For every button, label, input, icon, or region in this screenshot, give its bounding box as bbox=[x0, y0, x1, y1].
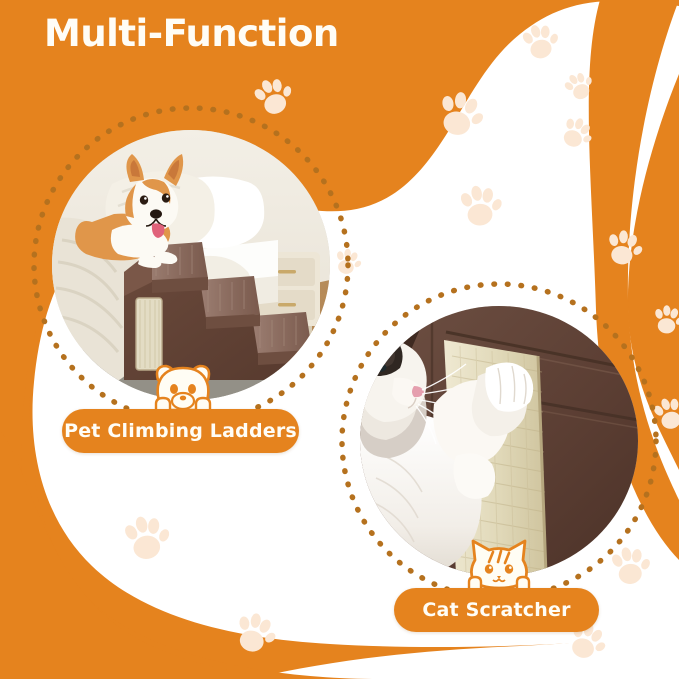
infographic-poster: Multi-Function bbox=[0, 0, 679, 679]
page-title: Multi-Function bbox=[44, 14, 339, 55]
feature-photo-cat-scratcher bbox=[360, 306, 638, 576]
feature-label-pet-climbing-ladders[interactable]: Pet Climbing Ladders bbox=[62, 409, 299, 453]
feature-label-cat-scratcher[interactable]: Cat Scratcher bbox=[394, 588, 599, 632]
feature-photo-pet-climbing-ladders bbox=[52, 130, 330, 400]
photo-corgi-on-pet-stairs bbox=[52, 130, 330, 400]
photo-cat-scratching-sisal bbox=[360, 306, 638, 576]
